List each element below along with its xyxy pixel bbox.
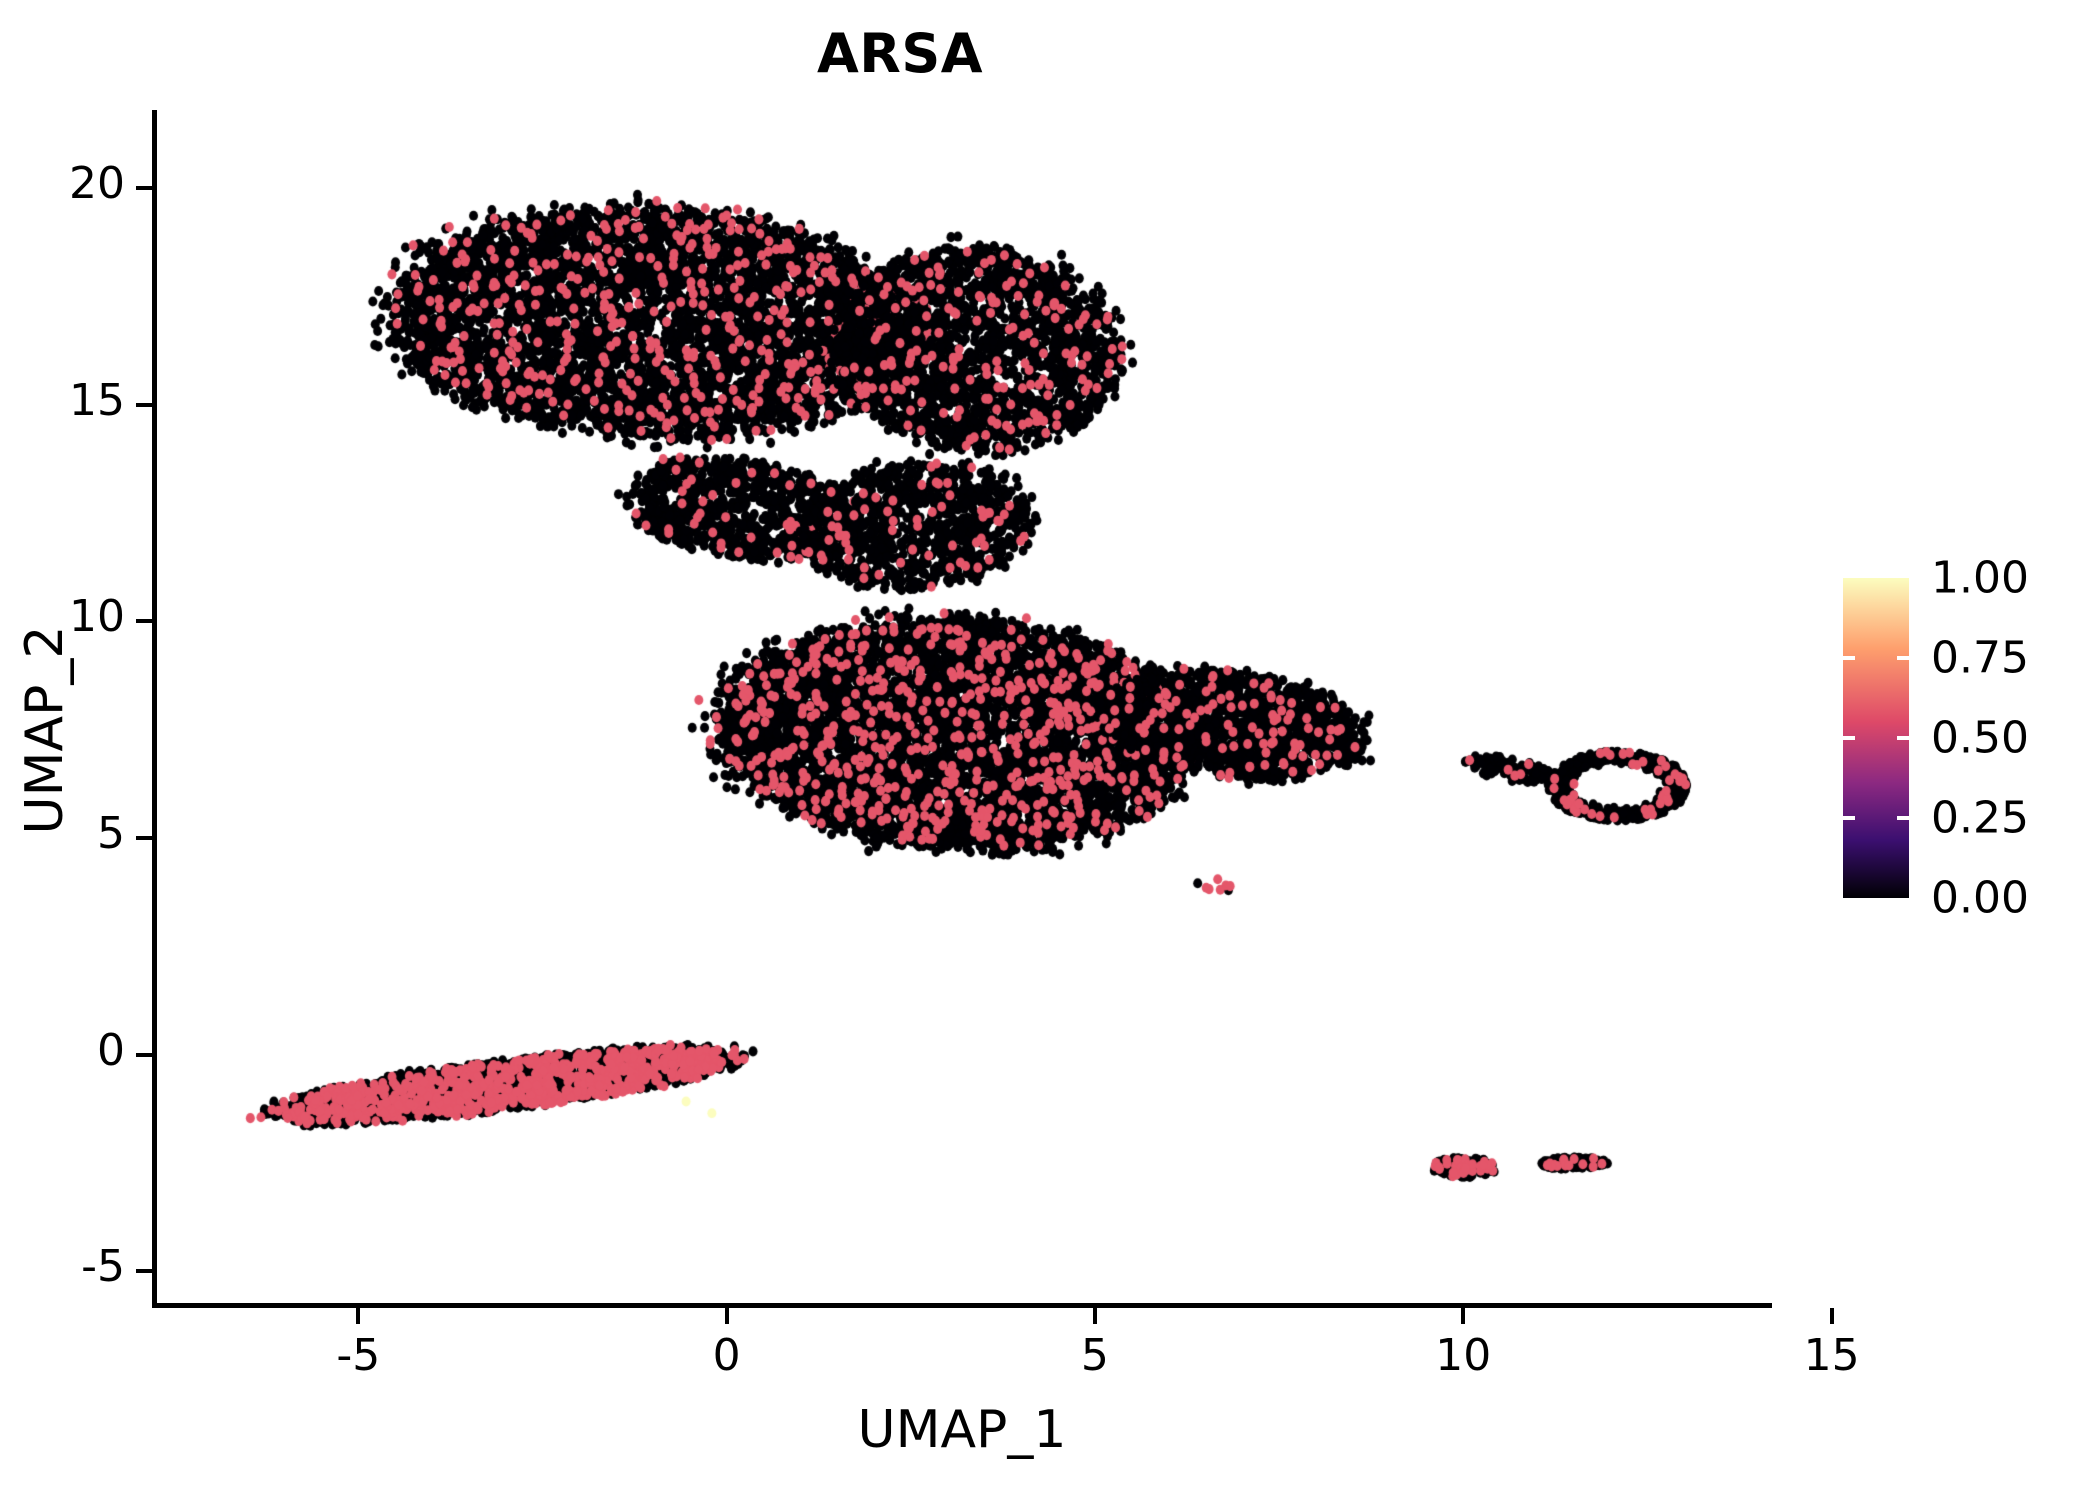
x-tick-label: 5 bbox=[995, 1330, 1195, 1381]
colorbar-tick-label: 0.00 bbox=[1931, 873, 2029, 924]
x-axis-label: UMAP_1 bbox=[152, 1400, 1772, 1460]
colorbar-tick-mark bbox=[1843, 656, 1855, 660]
x-tick-mark bbox=[1461, 1308, 1465, 1324]
x-tick-mark bbox=[356, 1308, 360, 1324]
plot-area bbox=[152, 110, 1920, 1306]
y-tick-mark bbox=[136, 186, 152, 190]
page-title: ARSA bbox=[0, 22, 1800, 85]
y-axis-spine bbox=[152, 110, 157, 1308]
colorbar-tick-label: 0.50 bbox=[1931, 713, 2029, 764]
colorbar bbox=[1843, 578, 1909, 898]
x-tick-label: 0 bbox=[627, 1330, 827, 1381]
x-axis-spine bbox=[152, 1303, 1772, 1308]
colorbar-tick-label: 0.75 bbox=[1931, 633, 2029, 684]
scatter-canvas bbox=[152, 110, 1920, 1306]
colorbar-tick-mark bbox=[1843, 736, 1855, 740]
x-tick-mark bbox=[1830, 1308, 1834, 1324]
y-tick-mark bbox=[136, 403, 152, 407]
x-tick-mark bbox=[1093, 1308, 1097, 1324]
y-tick-mark bbox=[136, 1053, 152, 1057]
colorbar-tick-label: 1.00 bbox=[1931, 553, 2029, 604]
colorbar-tick-mark bbox=[1897, 736, 1909, 740]
y-tick-mark bbox=[136, 1269, 152, 1273]
colorbar-tick-label: 0.25 bbox=[1931, 793, 2029, 844]
x-tick-label: 15 bbox=[1732, 1330, 1932, 1381]
y-tick-label: 20 bbox=[0, 158, 125, 209]
x-tick-mark bbox=[725, 1308, 729, 1324]
colorbar-tick-mark bbox=[1897, 656, 1909, 660]
x-tick-label: -5 bbox=[258, 1330, 458, 1381]
y-tick-label: -5 bbox=[0, 1241, 125, 1292]
y-tick-mark bbox=[136, 619, 152, 623]
x-tick-label: 10 bbox=[1363, 1330, 1563, 1381]
y-axis-label: UMAP_2 bbox=[15, 380, 75, 1080]
colorbar-tick-mark bbox=[1897, 816, 1909, 820]
colorbar-tick-mark bbox=[1843, 816, 1855, 820]
y-tick-mark bbox=[136, 836, 152, 840]
umap-feature-plot: ARSA -505101520 -5051015 UMAP_1 UMAP_2 1… bbox=[0, 0, 2100, 1500]
